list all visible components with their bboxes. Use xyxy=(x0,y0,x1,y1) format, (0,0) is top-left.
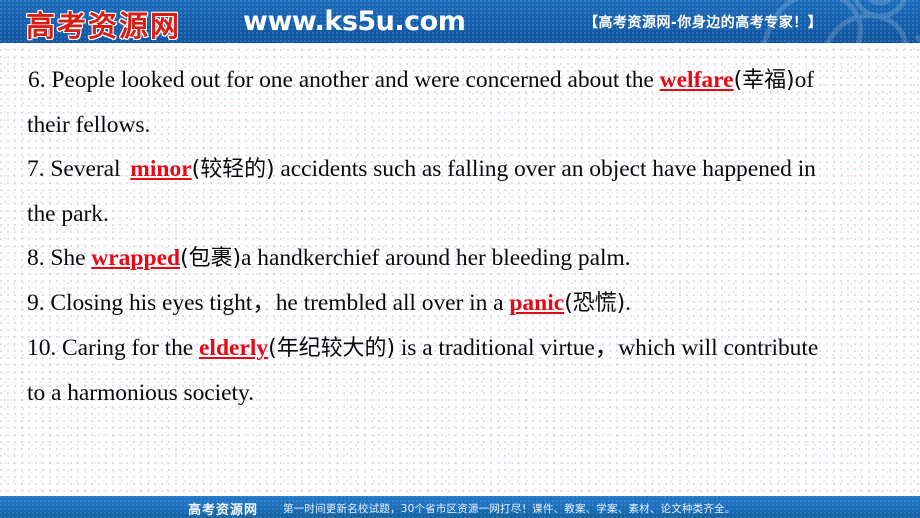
sentence-7-text-after: accidents such as falling over an object… xyxy=(275,156,816,182)
footer-promo-text: 第一时间更新名校试题，30个省市区资源一网打尽！课件、教案、学案、素材、论文种类… xyxy=(283,501,735,516)
gloss-minor: (较轻的) xyxy=(192,157,275,182)
sentence-8-text-before: 8. She xyxy=(27,245,91,271)
footer-logo-chinese: 高考资源网 xyxy=(188,499,258,518)
site-url-text: www.ks5u.com xyxy=(243,6,465,37)
gloss-elderly: (年纪较大的) xyxy=(268,336,395,361)
sentence-item-6-continuation: their fellows. xyxy=(0,103,920,147)
sentence-10-text-after: is a traditional virtue，which will contr… xyxy=(395,335,818,361)
sentence-9-text-after: . xyxy=(625,290,631,316)
site-logo-chinese: 高考资源网 xyxy=(26,3,181,43)
exercise-sentence-list: 6. People looked out for one another and… xyxy=(0,58,920,415)
sentence-item-7: 7. Several minor(较轻的) accidents such as … xyxy=(0,147,920,192)
sentence-item-6: 6. People looked out for one another and… xyxy=(0,58,920,103)
header-banner: 高考资源网 www.ks5u.com 【高考资源网-你身边的高考专家！】 xyxy=(0,0,920,43)
answer-keyword-elderly: elderly xyxy=(199,335,268,361)
gloss-wrapped: (包裹) xyxy=(180,246,241,271)
answer-keyword-welfare: welfare xyxy=(660,67,734,93)
sentence-10-text-before: 10. Caring for the xyxy=(27,335,199,361)
site-tagline: 【高考资源网-你身边的高考专家！】 xyxy=(584,12,822,32)
answer-keyword-wrapped: wrapped xyxy=(91,245,180,271)
gloss-welfare: (幸福) xyxy=(734,68,795,93)
footer-banner: 高考资源网 第一时间更新名校试题，30个省市区资源一网打尽！课件、教案、学案、素… xyxy=(0,496,920,518)
sentence-6-text-before: 6. People looked out for one another and… xyxy=(28,67,660,93)
sentence-item-10-continuation: to a harmonious society. xyxy=(0,371,920,415)
answer-keyword-minor: minor xyxy=(126,156,191,182)
slide-canvas: 高考资源网 www.ks5u.com 【高考资源网-你身边的高考专家！】 6. … xyxy=(0,0,920,518)
answer-keyword-panic: panic xyxy=(509,290,564,316)
sentence-6-text-after: of xyxy=(795,67,814,93)
sentence-item-9: 9. Closing his eyes tight，he trembled al… xyxy=(0,281,920,326)
sentence-item-7-continuation: the park. xyxy=(0,192,920,236)
sentence-7-text-before: 7. Several xyxy=(27,156,126,182)
sentence-item-8: 8. She wrapped(包裹)a handkerchief around … xyxy=(0,236,920,281)
sentence-9-text-before: 9. Closing his eyes tight，he trembled al… xyxy=(27,290,509,316)
gloss-panic: (恐慌) xyxy=(564,291,625,316)
sentence-item-10: 10. Caring for the elderly(年纪较大的) is a t… xyxy=(0,326,920,371)
sentence-8-text-after: a handkerchief around her bleeding palm. xyxy=(241,245,631,271)
